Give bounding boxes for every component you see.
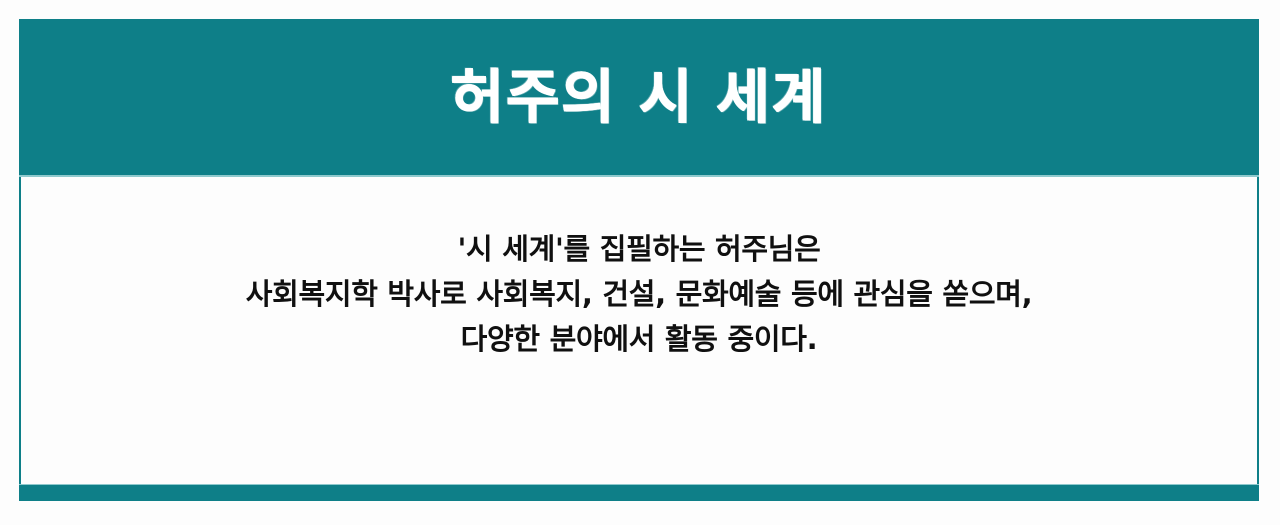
bio-line-2: 사회복지학 박사로 사회복지, 건설, 문화예술 등에 관심을 쏟으며, <box>246 272 1033 317</box>
author-bio-section: '시 세계'를 집필하는 허주님은 사회복지학 박사로 사회복지, 건설, 문화… <box>21 177 1257 484</box>
bio-line-1: '시 세계'를 집필하는 허주님은 <box>457 227 820 272</box>
page-title: 허주의 시 세계 <box>451 68 828 126</box>
card-footer-bar <box>19 484 1259 501</box>
bio-line-3: 다양한 분야에서 활동 중이다. <box>461 317 818 362</box>
card-header-banner: 허주의 시 세계 <box>19 19 1259 175</box>
author-profile-card: 허주의 시 세계 '시 세계'를 집필하는 허주님은 사회복지학 박사로 사회복… <box>19 19 1259 501</box>
